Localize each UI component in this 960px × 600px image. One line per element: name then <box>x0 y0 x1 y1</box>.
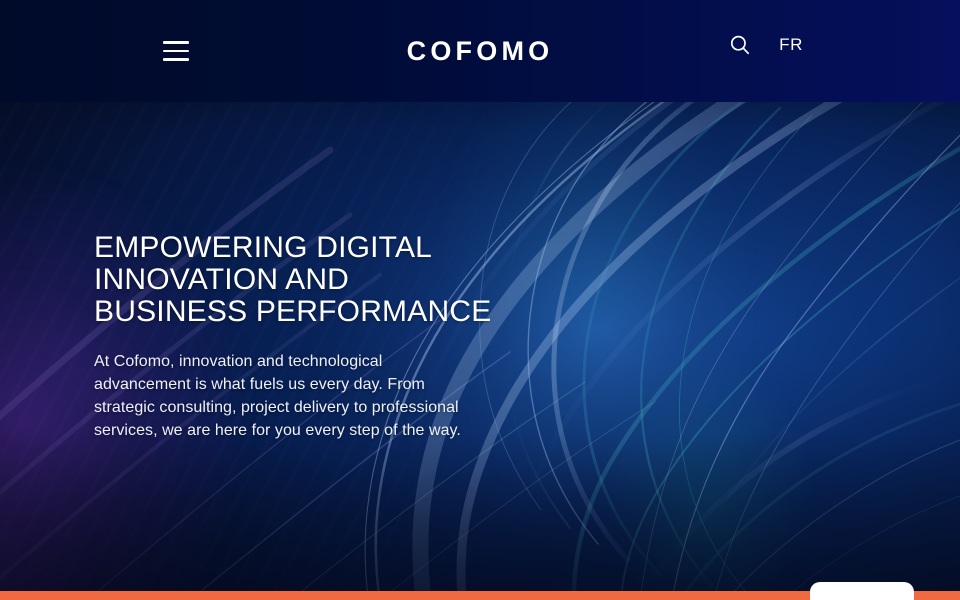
hero-title: EMPOWERING DIGITAL INNOVATION AND BUSINE… <box>94 232 489 328</box>
hero-title-line-2: INNOVATION AND <box>94 264 489 296</box>
brand-logo[interactable]: COFOMO <box>0 36 960 66</box>
header-actions: FR <box>725 30 805 60</box>
hero-content: EMPOWERING DIGITAL INNOVATION AND BUSINE… <box>94 232 489 442</box>
search-glyph <box>728 33 752 57</box>
hero-title-line-3: BUSINESS PERFORMANCE <box>94 296 489 328</box>
hero-title-line-1: EMPOWERING DIGITAL <box>94 232 489 264</box>
bottom-right-card[interactable] <box>810 582 914 600</box>
search-icon[interactable] <box>725 30 755 60</box>
site-header: COFOMO FR <box>0 0 960 102</box>
hero-paragraph: At Cofomo, innovation and technological … <box>94 350 472 442</box>
page-root: COFOMO FR EMPOWERING DIGITAL INNOVATION … <box>0 0 960 600</box>
language-switch-fr[interactable]: FR <box>777 35 805 55</box>
